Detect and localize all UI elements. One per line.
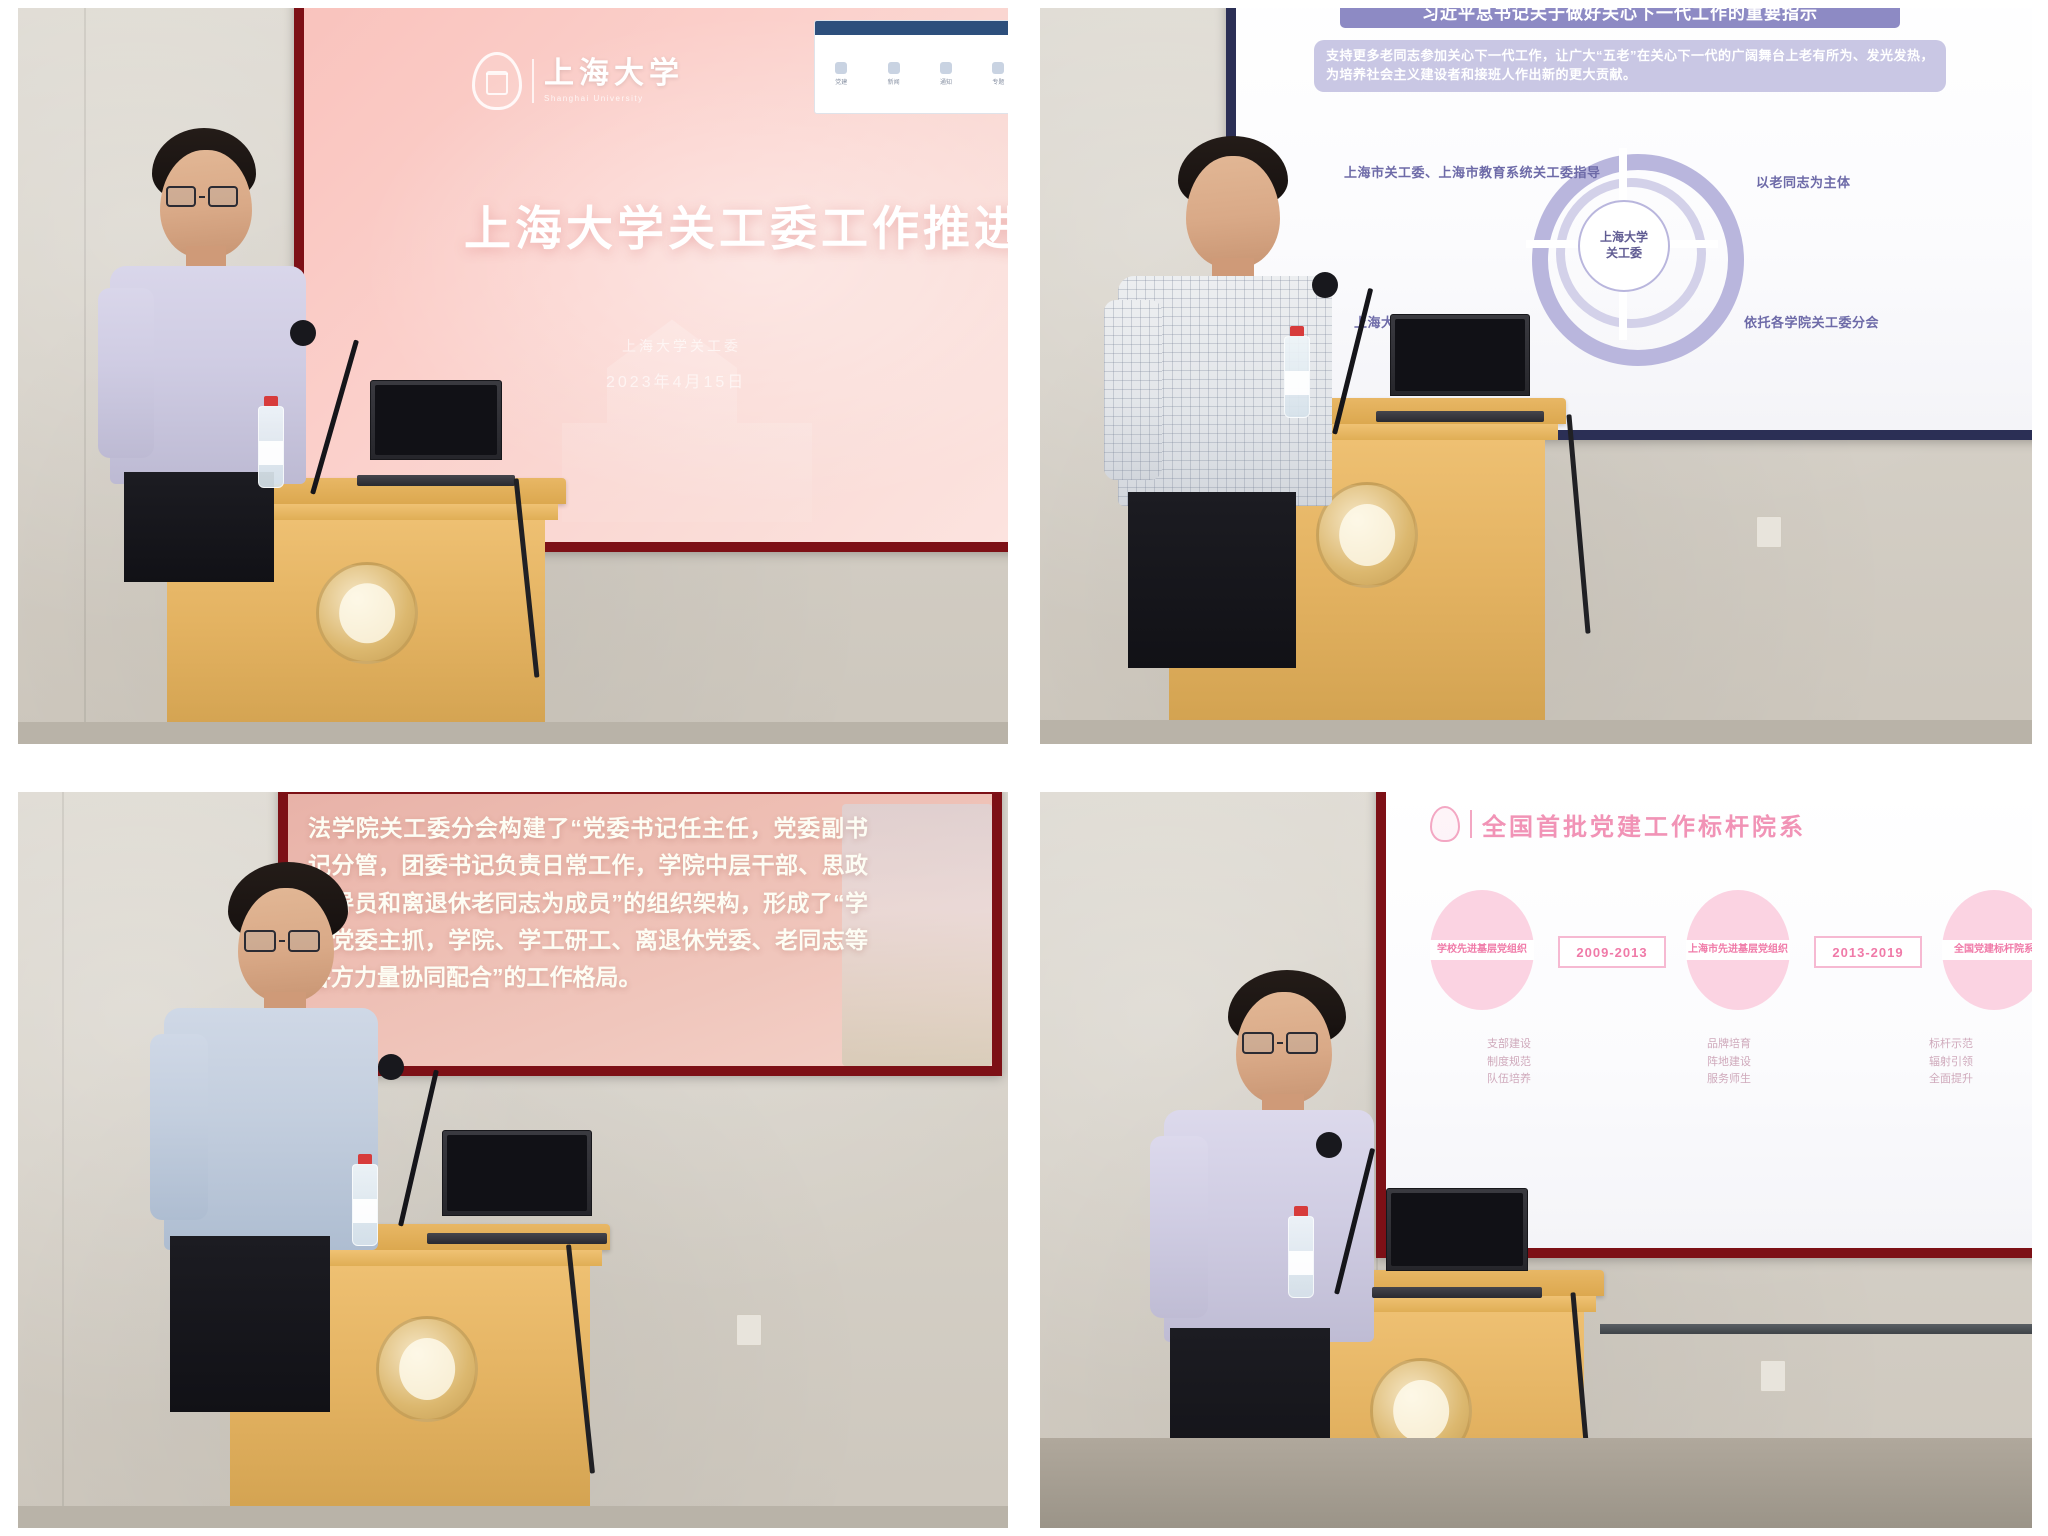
bottle-body [1284, 336, 1310, 418]
panel-bottom-right: 全国首批党建工作标杆院系 学校先进基层党组织 2009-2013 上海市先进基层… [1024, 768, 2048, 1536]
timeline-node-label: 全国党建标杆院系 [1942, 940, 2032, 960]
quadrant-text: 依托各学院关工委分会 [1744, 315, 1879, 330]
laptop-lid [442, 1130, 592, 1216]
bottle-body [1288, 1216, 1314, 1298]
diagram-center-line1: 上海大学 [1600, 230, 1648, 246]
photo-top-right: 习近平总书记关于做好关心下一代工作的重要指示 支持更多老同志参加关心下一代工作，… [1040, 8, 2032, 744]
browser-tab[interactable]: 通知 [920, 35, 972, 113]
bottle-label [1285, 371, 1309, 395]
microphone-head-icon [290, 320, 316, 346]
university-crest-icon [1430, 806, 1460, 842]
timeline-year-chip: 2013-2019 [1814, 936, 1922, 968]
laptop-lid [370, 380, 502, 460]
speaker-trousers [1128, 492, 1296, 668]
wall-outlet [1760, 1360, 1786, 1392]
slide-date: 2023年4月15日 [606, 368, 746, 392]
browser-panel: 党建 新闻 通知 [814, 20, 1008, 114]
glasses-icon [1242, 1032, 1318, 1054]
timeline-node-label: 学校先进基层党组织 [1430, 940, 1534, 960]
timeline-year-chip: 2009-2013 [1558, 936, 1666, 968]
laptop-base [427, 1233, 607, 1244]
slide-bottom-right: 全国首批党建工作标杆院系 学校先进基层党组织 2009-2013 上海市先进基层… [1386, 792, 2032, 1248]
water-bottle [254, 396, 288, 488]
laptop-lid [1390, 314, 1530, 396]
photo-top-left: 上海大学 Shanghai University 党建 [18, 8, 1008, 744]
browser-tab[interactable]: 党建 [815, 35, 867, 113]
university-crest-icon [472, 52, 522, 110]
panel-top-right: 习近平总书记关于做好关心下一代工作的重要指示 支持更多老同志参加关心下一代工作，… [1024, 0, 2048, 768]
projection-screen: 全国首批党建工作标杆院系 学校先进基层党组织 2009-2013 上海市先进基层… [1386, 792, 2032, 1248]
timeline-node: 上海市先进基层党组织 [1686, 890, 1790, 1010]
diagram-quadrant-label-2: 以老同志为主体 [1756, 174, 1851, 192]
timeline-node: 学校先进基层党组织 [1430, 890, 1534, 1010]
photo-collage: 上海大学 Shanghai University 党建 [0, 0, 2048, 1536]
timeline-header: 全国首批党建工作标杆院系 [1430, 806, 1806, 842]
panel-top-left: 上海大学 Shanghai University 党建 [0, 0, 1024, 768]
speaker-head [1186, 156, 1280, 268]
browser-tablist: 党建 新闻 通知 [815, 35, 1008, 113]
laptop[interactable] [1390, 314, 1530, 422]
slide-title: 上海大学关工委工作推进会 [464, 190, 1008, 259]
bottle-body [352, 1164, 378, 1246]
timeline-column: 支部建设 制度规范 队伍培养 [1434, 1036, 1584, 1089]
slide-header-pill: 习近平总书记关于做好关心下一代工作的重要指示 [1340, 8, 1900, 28]
bottle-label [1289, 1251, 1313, 1275]
baseboard [18, 1506, 1008, 1528]
university-name: 上海大学 [544, 59, 684, 89]
speaker-arm-left [150, 1034, 208, 1220]
speaker-trousers [124, 472, 274, 582]
logo-divider [532, 59, 534, 103]
laptop[interactable] [1386, 1188, 1528, 1298]
browser-tab-label: 新闻 [888, 77, 900, 86]
speaker [1066, 136, 1366, 566]
microphone-head-icon [378, 1054, 404, 1080]
slide-header-title: 全国首批党建工作标杆院系 [1482, 807, 1806, 842]
timeline-column: 品牌培育 阵地建设 服务师生 [1654, 1036, 1804, 1089]
speaker-arm-left [1150, 1136, 1208, 1318]
browser-tab[interactable]: 新闻 [867, 35, 919, 113]
timeline-node-label: 上海市先进基层党组织 [1686, 940, 1790, 960]
laptop-base [1372, 1287, 1542, 1298]
diagram-quadrant-label-1: 上海市关工委、上海市教育系统关工委指导 [1344, 164, 1601, 182]
diagram-quadrant-label-4: 依托各学院关工委分会 [1744, 314, 1879, 332]
baseboard [1040, 720, 2032, 744]
speaker [1124, 970, 1424, 1400]
panel-bottom-left: 法学院关工委分会构建了“党委书记任主任，党委副书记分管，团委书记负责日常工作，学… [0, 768, 1024, 1536]
browser-tab[interactable]: 专题 [972, 35, 1008, 113]
diagram-center: 上海大学 关工委 [1578, 200, 1670, 292]
tab-icon [835, 62, 847, 74]
university-name-en: Shanghai University [544, 94, 684, 103]
timeline-column: 标杆示范 辐射引领 全面提升 [1876, 1036, 2026, 1089]
logo-divider [1470, 810, 1472, 838]
diagram-center-line2: 关工委 [1606, 246, 1642, 262]
laptop-base [357, 475, 515, 486]
university-logo: 上海大学 Shanghai University [472, 52, 684, 110]
browser-tab-label: 专题 [992, 77, 1004, 86]
water-bottle [1284, 1206, 1318, 1298]
quadrant-text: 以老同志为主体 [1756, 175, 1851, 190]
wall-rail [1600, 1324, 2032, 1334]
browser-titlebar [815, 21, 1008, 35]
slide-byline: 上海大学关工委 [622, 336, 741, 356]
speaker-trousers [170, 1236, 330, 1412]
floor [1040, 1438, 2032, 1528]
glasses-icon [166, 186, 238, 207]
podium-seal-icon [376, 1316, 478, 1422]
tab-icon [992, 62, 1004, 74]
bottle-body [258, 406, 284, 488]
wall-outlet [736, 1314, 762, 1346]
microphone-head-icon [1312, 272, 1338, 298]
bottle-label [353, 1199, 377, 1223]
wall-outlet [1756, 516, 1782, 548]
speaker [128, 862, 428, 1302]
microphone-head-icon [1316, 1132, 1342, 1158]
speaker-arm-left [98, 288, 154, 458]
slide-body-text: 支持更多老同志参加关心下一代工作，让广大“五老”在关心下一代的广阔舞台上老有所为… [1314, 40, 1946, 92]
quadrant-text: 上海市关工委、上海市教育系统关工委指导 [1344, 165, 1601, 180]
laptop[interactable] [370, 380, 502, 486]
tab-icon [888, 62, 900, 74]
podium-seal-icon [316, 562, 418, 664]
bottle-label [259, 441, 283, 465]
photo-bottom-right: 全国首批党建工作标杆院系 学校先进基层党组织 2009-2013 上海市先进基层… [1040, 792, 2032, 1528]
tab-icon [940, 62, 952, 74]
water-bottle [348, 1154, 382, 1246]
wall-seam [62, 792, 64, 1528]
timeline-node: 全国党建标杆院系 [1942, 890, 2032, 1010]
laptop[interactable] [442, 1130, 592, 1244]
water-bottle [1280, 326, 1314, 418]
laptop-lid [1386, 1188, 1528, 1271]
laptop-base [1376, 411, 1544, 422]
glasses-icon [244, 930, 320, 952]
photo-bottom-left: 法学院关工委分会构建了“党委书记任主任，党委副书记分管，团委书记负责日常工作，学… [18, 792, 1008, 1528]
baseboard [18, 722, 1008, 744]
speaker-arm-left [1104, 300, 1162, 480]
browser-tab-label: 党建 [835, 77, 847, 86]
browser-tab-label: 通知 [940, 77, 952, 86]
